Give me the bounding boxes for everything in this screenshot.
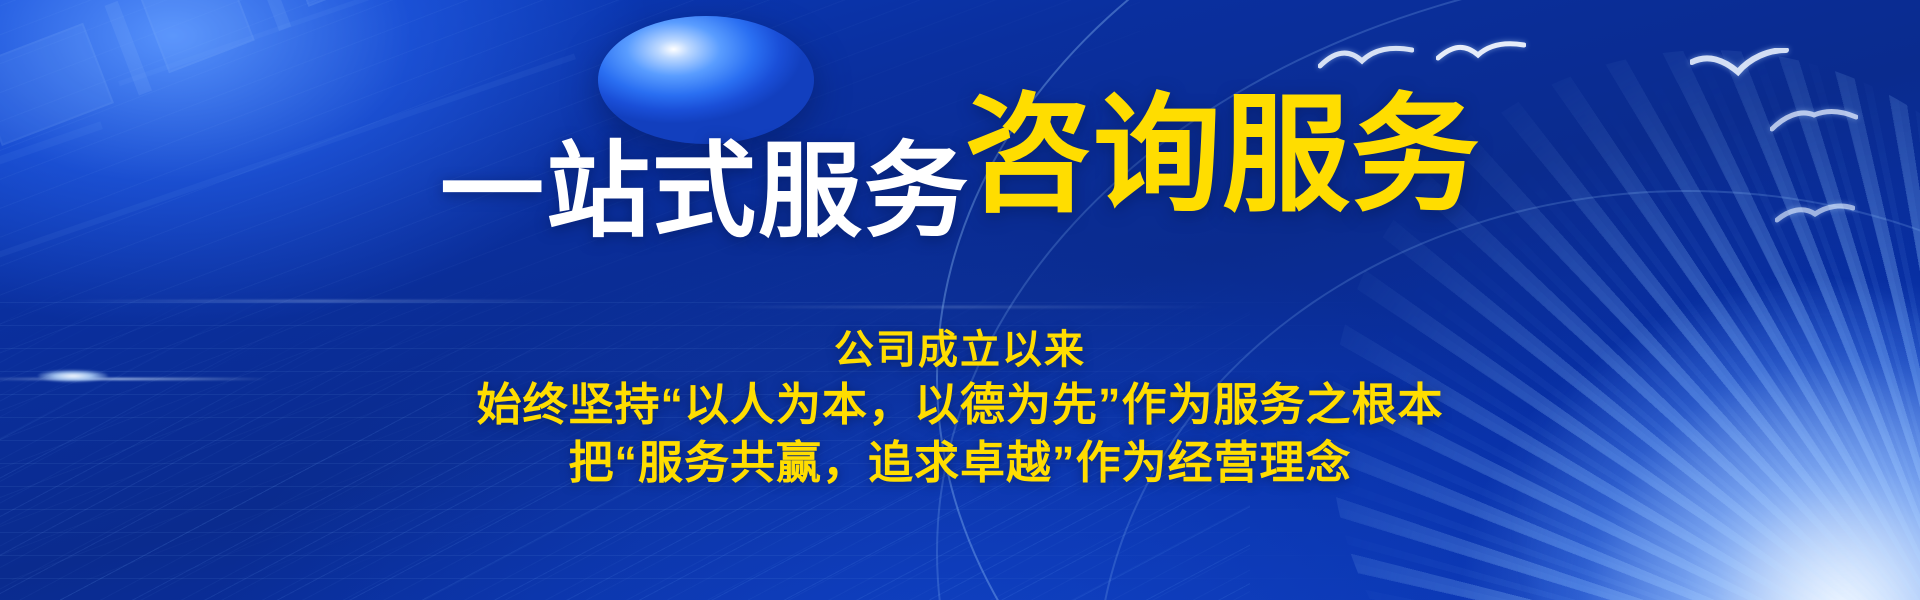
seagull-icon: [1318, 44, 1414, 74]
lens-flare-streak: [700, 306, 1220, 308]
banner-canvas: 一站式服务 咨询服务 公司成立以来 始终坚持“以人为本，以德为先”作为服务之根本…: [0, 0, 1920, 600]
body-line-1: 公司成立以来: [0, 325, 1920, 376]
seagull-icon: [1690, 48, 1790, 80]
body-line-3: 把“服务共赢，追求卓越”作为经营理念: [0, 434, 1920, 492]
body-line-2: 始终坚持“以人为本，以德为先”作为服务之根本: [0, 376, 1920, 434]
lens-flare-streak: [60, 300, 580, 302]
background-decoration-layer: [0, 0, 1920, 600]
seagull-icon: [1436, 40, 1526, 68]
headline-accent-text: 咨询服务: [964, 92, 1480, 220]
headline: 一站式服务 咨询服务: [0, 92, 1920, 220]
body-copy: 公司成立以来 始终坚持“以人为本，以德为先”作为服务之根本 把“服务共赢，追求卓…: [0, 325, 1920, 491]
headline-primary-text: 一站式服务: [440, 140, 970, 244]
